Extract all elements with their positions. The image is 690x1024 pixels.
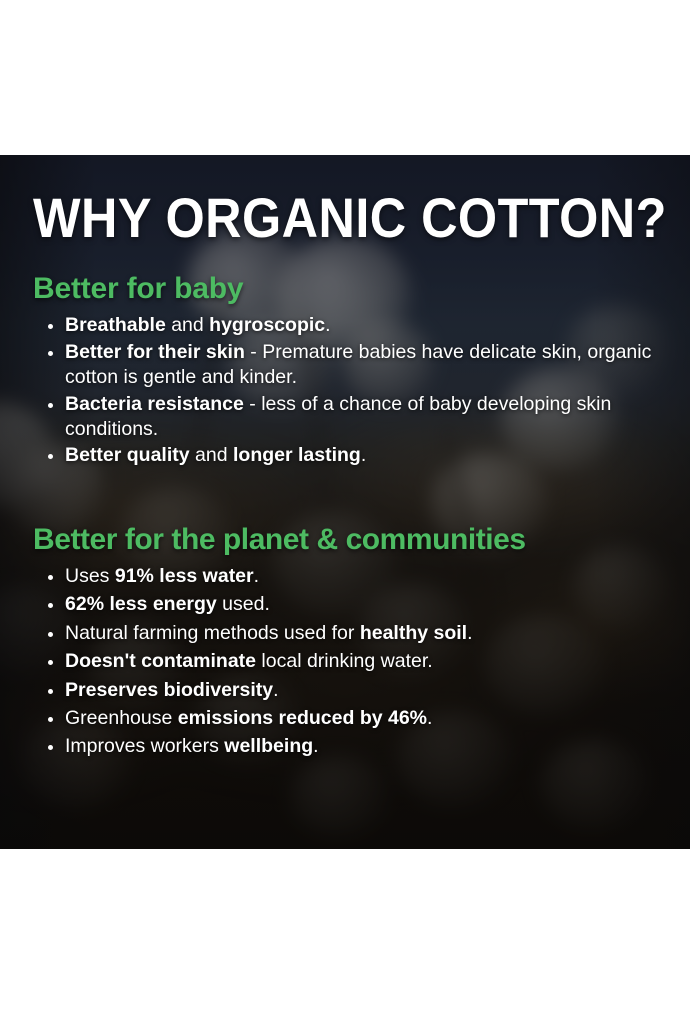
body-text: local drinking water. <box>256 650 433 672</box>
section-heading-baby: Better for baby <box>33 272 660 306</box>
body-text: . <box>361 444 366 466</box>
body-text: . <box>313 735 318 757</box>
page-canvas: WHY ORGANIC COTTON? Better for baby Brea… <box>0 0 690 1024</box>
organic-cotton-infographic: WHY ORGANIC COTTON? Better for baby Brea… <box>0 155 690 849</box>
list-item: Natural farming methods used for healthy… <box>43 621 660 646</box>
list-item: Greenhouse emissions reduced by 46%. <box>43 706 660 731</box>
list-item: Uses 91% less water. <box>43 564 660 589</box>
body-text: used. <box>217 593 270 615</box>
page-title: WHY ORGANIC COTTON? <box>33 191 597 246</box>
body-text: and <box>166 314 209 336</box>
body-text: . <box>273 679 278 701</box>
infographic-content: WHY ORGANIC COTTON? Better for baby Brea… <box>0 155 690 849</box>
body-text: Natural farming methods used for <box>65 622 360 644</box>
body-text: . <box>427 707 432 729</box>
emphasis-text: Bacteria resistance <box>65 393 244 415</box>
emphasis-text: 62% less energy <box>65 593 217 615</box>
body-text: Improves workers <box>65 735 224 757</box>
bullet-list-baby: Breathable and hygroscopic.Better for th… <box>33 313 660 468</box>
emphasis-text: Better quality <box>65 444 190 466</box>
emphasis-text: hygroscopic <box>209 314 325 336</box>
list-item: Bacteria resistance - less of a chance o… <box>43 392 660 443</box>
body-text: . <box>467 622 472 644</box>
emphasis-text: longer lasting <box>233 444 361 466</box>
bullet-list-planet: Uses 91% less water.62% less energy used… <box>33 564 660 759</box>
emphasis-text: Doesn't contaminate <box>65 650 256 672</box>
body-text: Greenhouse <box>65 707 178 729</box>
list-item: Preserves biodiversity. <box>43 678 660 703</box>
emphasis-text: Breathable <box>65 314 166 336</box>
emphasis-text: 91% less water <box>115 565 254 587</box>
emphasis-text: emissions reduced by 46% <box>178 707 427 729</box>
list-item: Better for their skin - Premature babies… <box>43 340 660 391</box>
body-text: . <box>254 565 259 587</box>
emphasis-text: wellbeing <box>224 735 313 757</box>
body-text: . <box>325 314 330 336</box>
emphasis-text: Better for their skin <box>65 341 245 363</box>
list-item: Better quality and longer lasting. <box>43 443 660 468</box>
list-item: Improves workers wellbeing. <box>43 734 660 759</box>
list-item: Doesn't contaminate local drinking water… <box>43 649 660 674</box>
list-item: Breathable and hygroscopic. <box>43 313 660 338</box>
emphasis-text: Preserves biodiversity <box>65 679 273 701</box>
emphasis-text: healthy soil <box>360 622 467 644</box>
body-text: Uses <box>65 565 115 587</box>
section-heading-planet: Better for the planet & communities <box>33 523 660 557</box>
section-better-for-planet: Better for the planet & communities Uses… <box>33 523 660 760</box>
body-text: and <box>190 444 233 466</box>
section-better-for-baby: Better for baby Breathable and hygroscop… <box>33 272 660 469</box>
list-item: 62% less energy used. <box>43 592 660 617</box>
